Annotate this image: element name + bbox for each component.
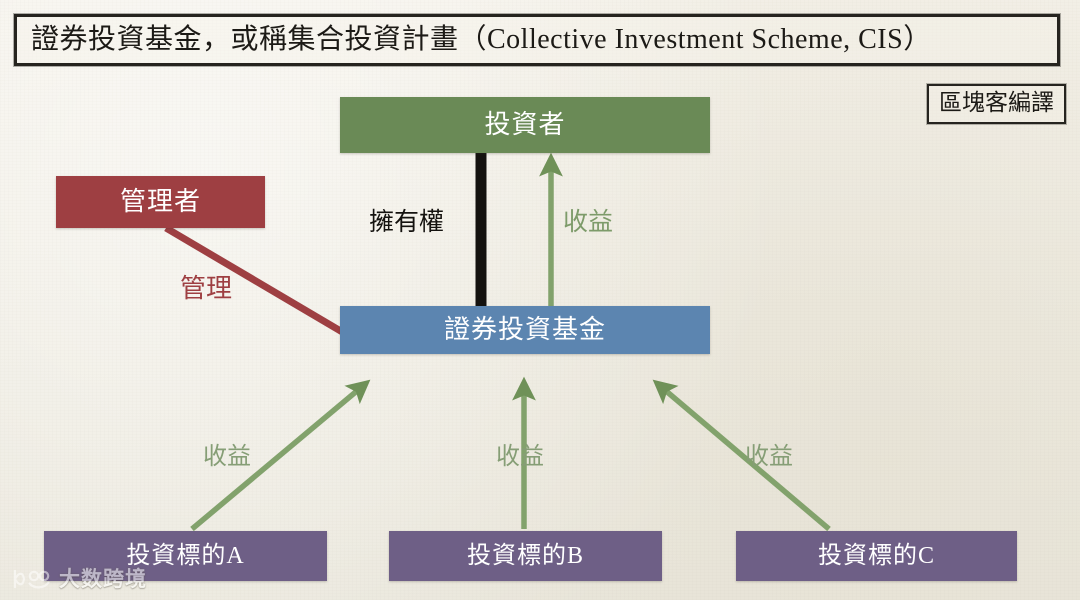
node-manager: 管理者 [56, 176, 265, 228]
node-asset-b-label: 投資標的B [467, 544, 584, 568]
node-fund-label: 證券投資基金 [444, 317, 606, 343]
node-fund: 證券投資基金 [340, 306, 710, 354]
node-asset-a-label: 投資標的A [126, 544, 244, 568]
credit-badge-label: 區塊客編譯 [939, 90, 1054, 116]
diagram-canvas: 證券投資基金，或稱集合投資計畫（Collective Investment Sc… [0, 0, 1080, 600]
connector-layer [0, 0, 1080, 600]
node-asset-c-label: 投資標的C [818, 544, 935, 568]
node-asset-c: 投資標的C [736, 531, 1017, 581]
edge-line-yield-c [659, 385, 829, 529]
node-investor-label: 投資者 [484, 112, 565, 138]
title-frame: 證券投資基金，或稱集合投資計畫（Collective Investment Sc… [14, 14, 1060, 66]
edge-label-manage: 管理 [180, 276, 232, 302]
credit-badge: 區塊客編譯 [927, 84, 1066, 124]
edge-label-yield-a: 收益 [203, 445, 251, 469]
node-investor: 投資者 [340, 97, 710, 153]
edge-label-yield-top: 收益 [563, 210, 613, 235]
node-asset-b: 投資標的B [389, 531, 662, 581]
edge-label-yield-c: 收益 [745, 445, 793, 469]
node-manager-label: 管理者 [120, 189, 201, 215]
edge-label-yield-b: 收益 [496, 445, 544, 469]
edge-label-ownership: 擁有權 [369, 210, 444, 235]
page-title: 證券投資基金，或稱集合投資計畫（Collective Investment Sc… [17, 26, 932, 54]
node-asset-a: 投資標的A [44, 531, 327, 581]
